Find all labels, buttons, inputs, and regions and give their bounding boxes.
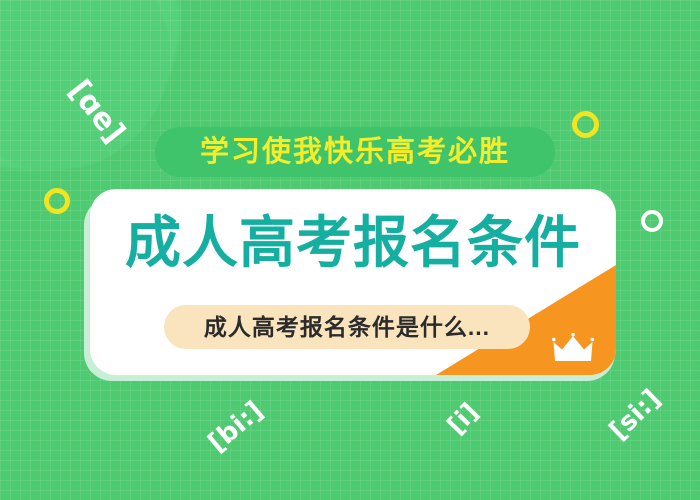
- banner-pill: 学习使我快乐高考必胜: [155, 127, 555, 177]
- main-card: 成人高考报名条件 成人高考报名条件是什么...: [90, 189, 616, 375]
- decorative-ring-yellow-right: [572, 111, 599, 138]
- banner-text: 学习使我快乐高考必胜: [200, 138, 510, 167]
- subtitle-pill: 成人高考报名条件是什么...: [164, 305, 530, 349]
- decorative-ring-white-right: [641, 210, 663, 232]
- decorative-phonetic-bi: [bi:]: [203, 396, 270, 459]
- subtitle-text: 成人高考报名条件是什么...: [204, 316, 490, 339]
- decorative-phonetic-si: [si:]: [604, 384, 667, 446]
- decorative-phonetic-i: [i]: [441, 397, 484, 440]
- page-title: 成人高考报名条件: [90, 215, 616, 271]
- poster-canvas: [ɑe] [bi:] [i] [si:] 学习使我快乐高考必胜 成人高考报名条件…: [0, 0, 700, 500]
- crown-icon: [552, 333, 594, 363]
- decorative-ring-yellow-left: [44, 188, 70, 214]
